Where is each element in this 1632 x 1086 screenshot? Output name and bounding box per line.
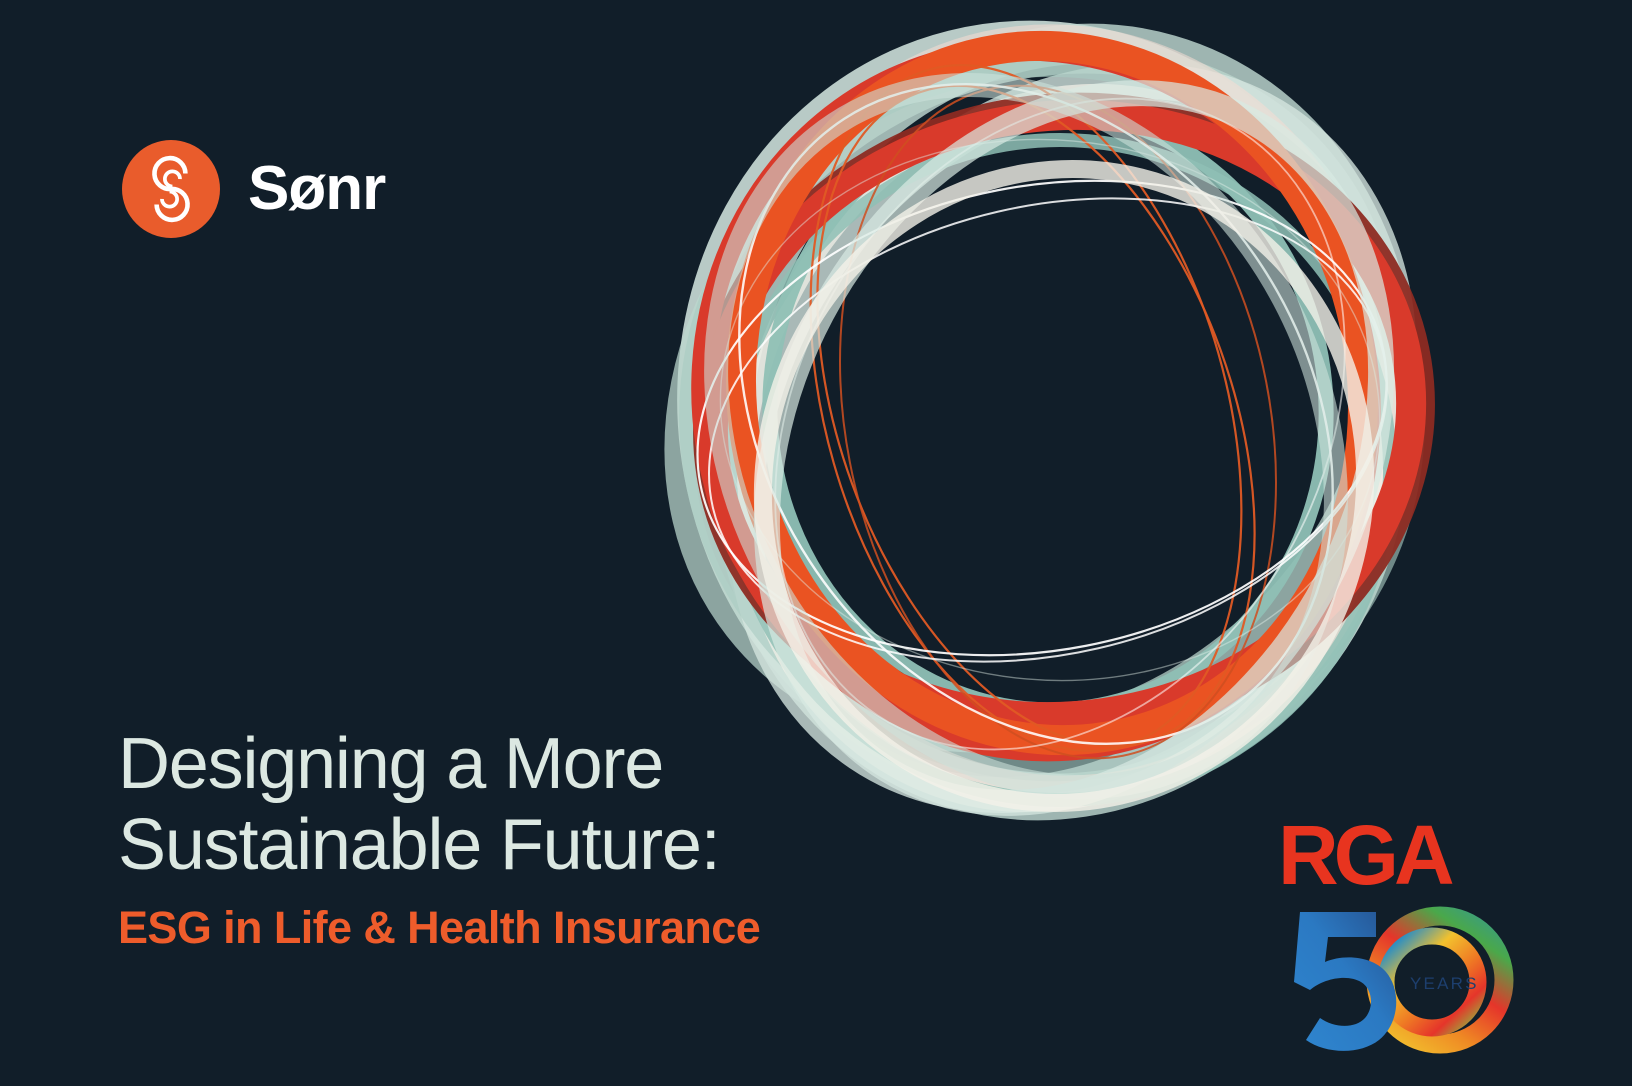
rga-anniversary-number xyxy=(1294,912,1396,1051)
abstract-sphere-rings-graphic xyxy=(612,18,1462,828)
subtitle: ESG in Life & Health Insurance xyxy=(118,903,1018,953)
sonr-s-monogram-icon xyxy=(122,140,220,238)
slide-canvas: Sønr xyxy=(0,0,1632,1086)
svg-text:RGA: RGA xyxy=(1278,812,1453,902)
sonr-brand-lockup[interactable]: Sønr xyxy=(122,140,385,238)
headline-line-2: Sustainable Future: xyxy=(118,805,1018,886)
headline-line-1: Designing a More xyxy=(118,724,1018,805)
sonr-wordmark: Sønr xyxy=(248,158,385,220)
rga-wordmark-letters: RGA xyxy=(1278,812,1453,902)
headline-block: Designing a More Sustainable Future: ESG… xyxy=(118,724,1018,953)
rga-anniversary-label: YEARS xyxy=(1410,974,1479,993)
rga-50-years-logo[interactable]: RGA YEARS xyxy=(1272,812,1522,1062)
